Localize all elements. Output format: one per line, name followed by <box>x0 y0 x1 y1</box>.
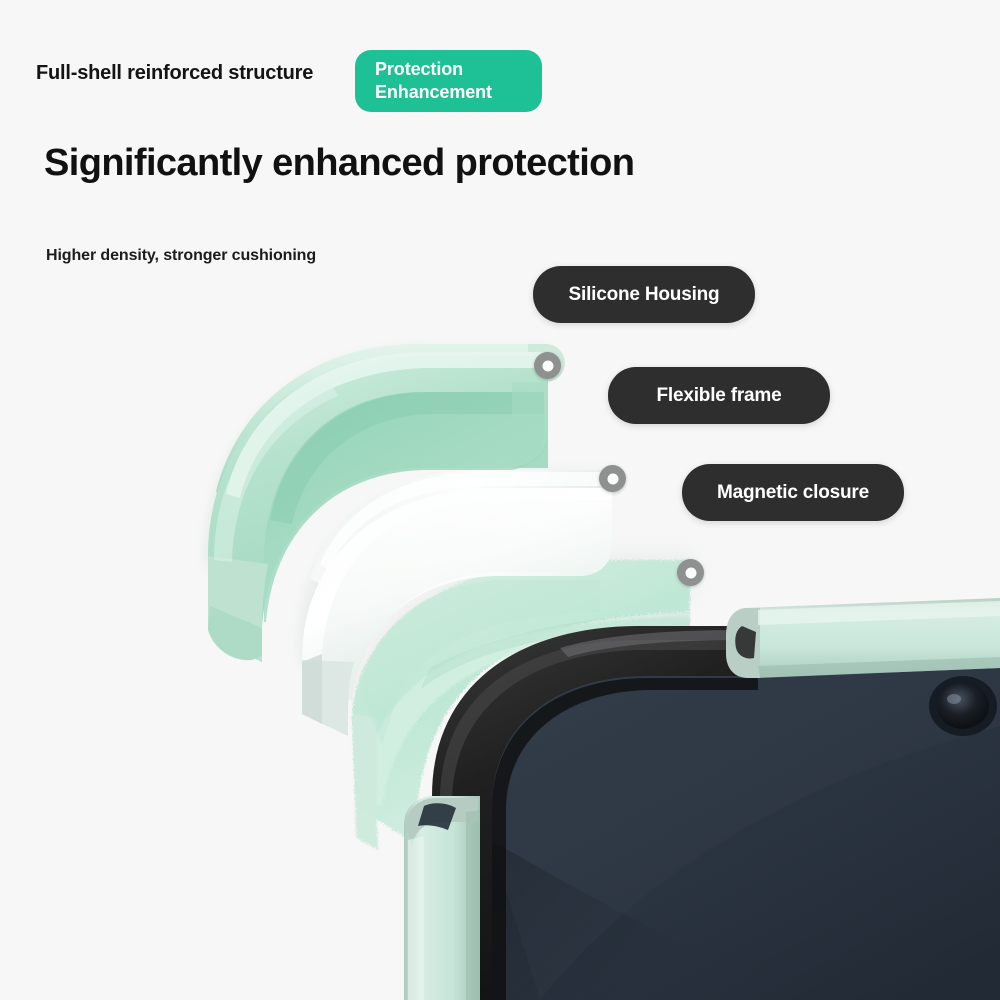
eyebrow-text: Full-shell reinforced structure <box>36 62 313 85</box>
case-rail-top <box>726 598 1000 678</box>
callout-magnetic-closure: Magnetic closure <box>682 464 904 521</box>
product-feature-graphic: Full-shell reinforced structure Protecti… <box>0 0 1000 1000</box>
protection-enhancement-badge: Protection Enhancement <box>355 50 542 112</box>
callout-silicone-housing: Silicone Housing <box>533 266 755 323</box>
connector-ring-icon-frame <box>599 465 626 492</box>
case-rail-left <box>404 796 480 1000</box>
callout-flexible-frame: Flexible frame <box>608 367 830 424</box>
page-title: Significantly enhanced protection <box>44 142 634 185</box>
connector-ring-icon-silicone <box>534 352 561 379</box>
connector-ring-icon-magnet <box>677 559 704 586</box>
badge-line-2: Enhancement <box>375 81 542 104</box>
camera-lens-icon <box>929 676 997 736</box>
subtitle-text: Higher density, stronger cushioning <box>46 247 316 265</box>
badge-line-1: Protection <box>375 58 542 81</box>
